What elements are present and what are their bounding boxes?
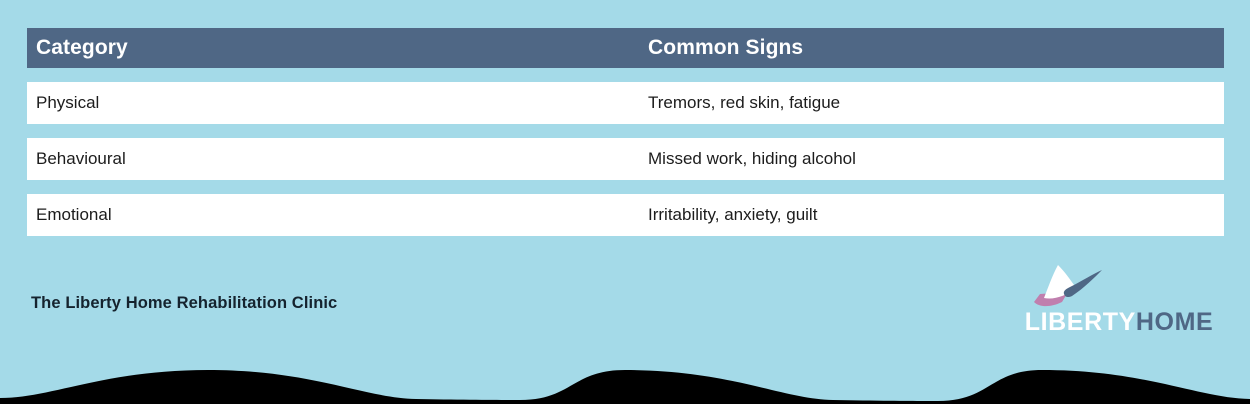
table-row: Physical Tremors, red skin, fatigue — [27, 82, 1224, 124]
table-row: Behavioural Missed work, hiding alcohol — [27, 138, 1224, 180]
cell-category: Emotional — [27, 205, 639, 225]
footer-caption: The Liberty Home Rehabilitation Clinic — [31, 294, 337, 313]
cell-category: Physical — [27, 93, 639, 113]
table-header-row: Category Common Signs — [27, 28, 1224, 68]
column-header-common-signs: Common Signs — [639, 36, 1224, 60]
brand-word-liberty: LIBERTY — [1025, 308, 1136, 336]
cell-common-signs: Tremors, red skin, fatigue — [639, 93, 1224, 113]
brand-wordmark: LIBERTYHOME — [1014, 310, 1224, 335]
brand-word-home: HOME — [1136, 308, 1213, 336]
bottom-wave-decoration — [0, 358, 1250, 404]
column-header-category: Category — [27, 36, 639, 60]
bird-wing-icon — [1022, 262, 1118, 310]
signs-table: Category Common Signs Physical Tremors, … — [27, 28, 1224, 236]
cell-common-signs: Irritability, anxiety, guilt — [639, 205, 1224, 225]
cell-category: Behavioural — [27, 149, 639, 169]
infographic-canvas: Category Common Signs Physical Tremors, … — [0, 0, 1250, 404]
brand-logo: LIBERTYHOME — [1014, 262, 1224, 342]
cell-common-signs: Missed work, hiding alcohol — [639, 149, 1224, 169]
table-row: Emotional Irritability, anxiety, guilt — [27, 194, 1224, 236]
